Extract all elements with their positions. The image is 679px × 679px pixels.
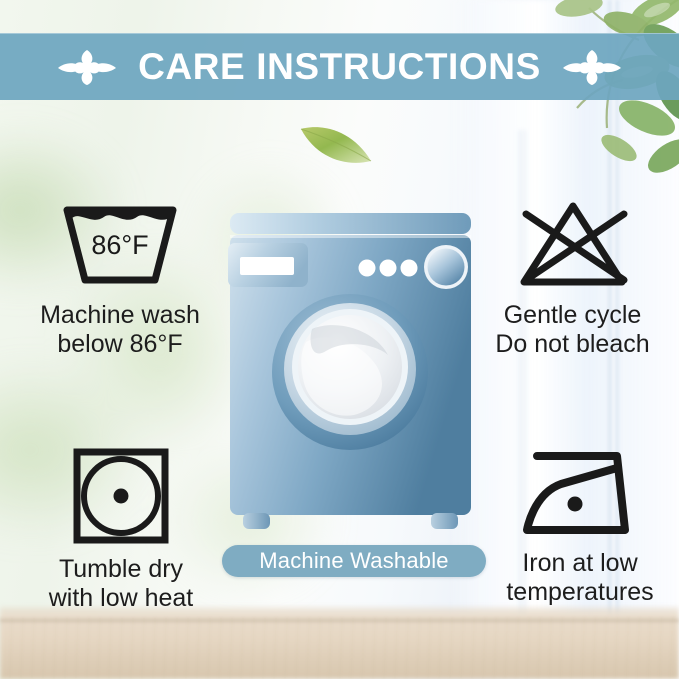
care-item-label: Iron at low temperatures — [506, 549, 653, 607]
machine-washable-badge: Machine Washable — [222, 545, 486, 577]
care-instructions-graphic: CARE INSTRUCTIONS 86°F Machine wash belo… — [0, 0, 679, 679]
page-title: CARE INSTRUCTIONS — [138, 48, 541, 85]
tumble-dry-icon — [71, 446, 171, 551]
badge-label: Machine Washable — [259, 550, 448, 572]
detergent-drawer-slot — [240, 257, 294, 275]
care-instructions-banner: CARE INSTRUCTIONS — [0, 33, 679, 100]
machine-foot-right — [431, 513, 458, 529]
indicator-dot — [380, 260, 397, 277]
floating-leaf-icon — [297, 117, 375, 169]
wash-temperature-value: 86°F — [91, 230, 148, 260]
iron-icon — [521, 446, 639, 545]
care-item-label: Tumble dry with low heat — [49, 555, 194, 613]
wash-tub-icon: 86°F — [57, 196, 183, 297]
indicator-dot — [401, 260, 418, 277]
fleur-de-lis-icon-left — [58, 47, 116, 87]
fleur-de-lis-icon-right — [563, 47, 621, 87]
foliage-branch — [519, 0, 679, 203]
care-item-gentle-do-not-bleach: Gentle cycle Do not bleach — [470, 196, 675, 359]
care-item-label: Gentle cycle Do not bleach — [495, 301, 649, 359]
washing-machine-illustration — [228, 209, 473, 542]
dial-knob — [428, 249, 465, 286]
machine-foot-left — [243, 513, 270, 529]
indicator-dot — [359, 260, 376, 277]
triangle-crossed-icon — [514, 196, 632, 297]
machine-top-lid — [230, 213, 471, 234]
care-item-iron: Iron at low temperatures — [484, 446, 676, 607]
tabletop-grain — [0, 617, 679, 679]
care-item-label: Machine wash below 86°F — [40, 301, 200, 359]
care-item-tumble-dry: Tumble dry with low heat — [22, 446, 220, 613]
care-item-machine-wash: 86°F Machine wash below 86°F — [14, 196, 226, 359]
